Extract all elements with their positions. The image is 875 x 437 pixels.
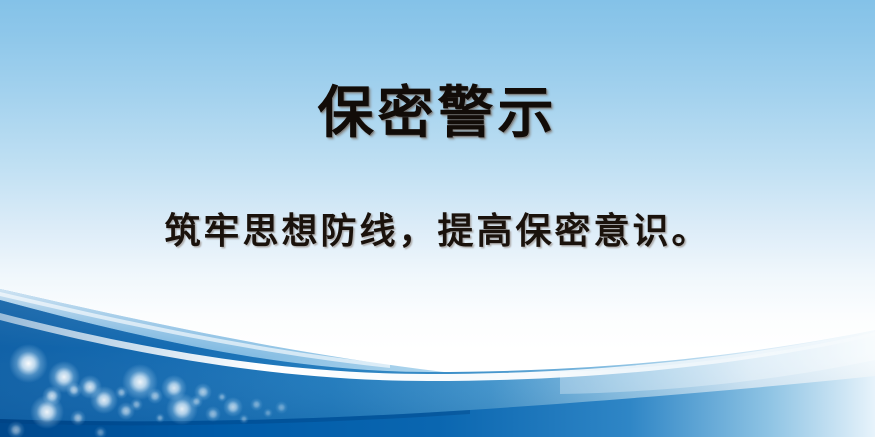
poster-subtitle: 筑牢思想防线，提高保密意识。 xyxy=(0,209,875,255)
poster-text-layer: 保密警示 筑牢思想防线，提高保密意识。 xyxy=(0,0,875,437)
poster-canvas: 保密警示 筑牢思想防线，提高保密意识。 xyxy=(0,0,875,437)
page-title: 保密警示 xyxy=(0,82,875,146)
